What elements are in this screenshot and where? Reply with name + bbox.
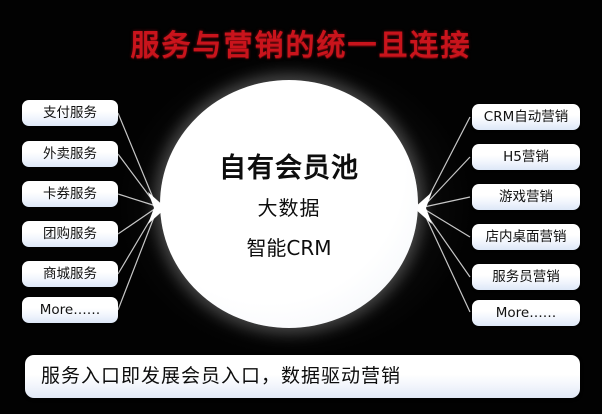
left-item-groupbuy[interactable]: 团购服务 <box>22 221 118 247</box>
right-item-in-store-table[interactable]: 店内桌面营销 <box>472 224 580 250</box>
connector-left-4 <box>118 208 156 234</box>
right-item-h5[interactable]: H5营销 <box>472 144 580 170</box>
infographic-canvas: 服务与营销的统一且连接 自有会员池 大数据 智能CRM 支付服务 外卖服务 卡券… <box>0 0 602 414</box>
left-item-takeout[interactable]: 外卖服务 <box>22 141 118 167</box>
right-item-game[interactable]: 游戏营销 <box>472 184 580 210</box>
connector-right-6 <box>424 213 470 312</box>
right-item-staff[interactable]: 服务员营销 <box>472 264 580 290</box>
left-item-payment[interactable]: 支付服务 <box>22 100 118 126</box>
bottom-banner-text: 服务入口即发展会员入口，数据驱动营销 <box>41 355 564 398</box>
connector-right-2 <box>424 157 470 206</box>
page-title: 服务与营销的统一且连接 <box>0 22 602 64</box>
left-item-coupon[interactable]: 卡券服务 <box>22 181 118 207</box>
connector-right-1 <box>424 117 470 206</box>
connector-right-5 <box>424 211 470 277</box>
member-pool-circle: 自有会员池 大数据 智能CRM <box>160 80 418 328</box>
circle-sub-label-bigdata: 大数据 <box>160 192 418 221</box>
left-item-more[interactable]: More…… <box>22 297 118 323</box>
connector-left-6 <box>118 212 156 310</box>
right-item-crm-auto[interactable]: CRM自动营销 <box>472 104 580 130</box>
bottom-banner: 服务入口即发展会员入口，数据驱动营销 <box>25 355 580 398</box>
connector-left-1 <box>118 113 156 205</box>
connector-left-3 <box>118 194 156 206</box>
connector-left-5 <box>118 210 156 274</box>
connector-right-4 <box>424 209 470 237</box>
left-item-mall[interactable]: 商城服务 <box>22 261 118 287</box>
circle-sub-label-crm: 智能CRM <box>160 232 418 261</box>
circle-main-label: 自有会员池 <box>160 146 418 185</box>
connector-left-2 <box>118 154 156 205</box>
right-item-more[interactable]: More…… <box>472 300 580 326</box>
connector-right-3 <box>424 197 470 207</box>
